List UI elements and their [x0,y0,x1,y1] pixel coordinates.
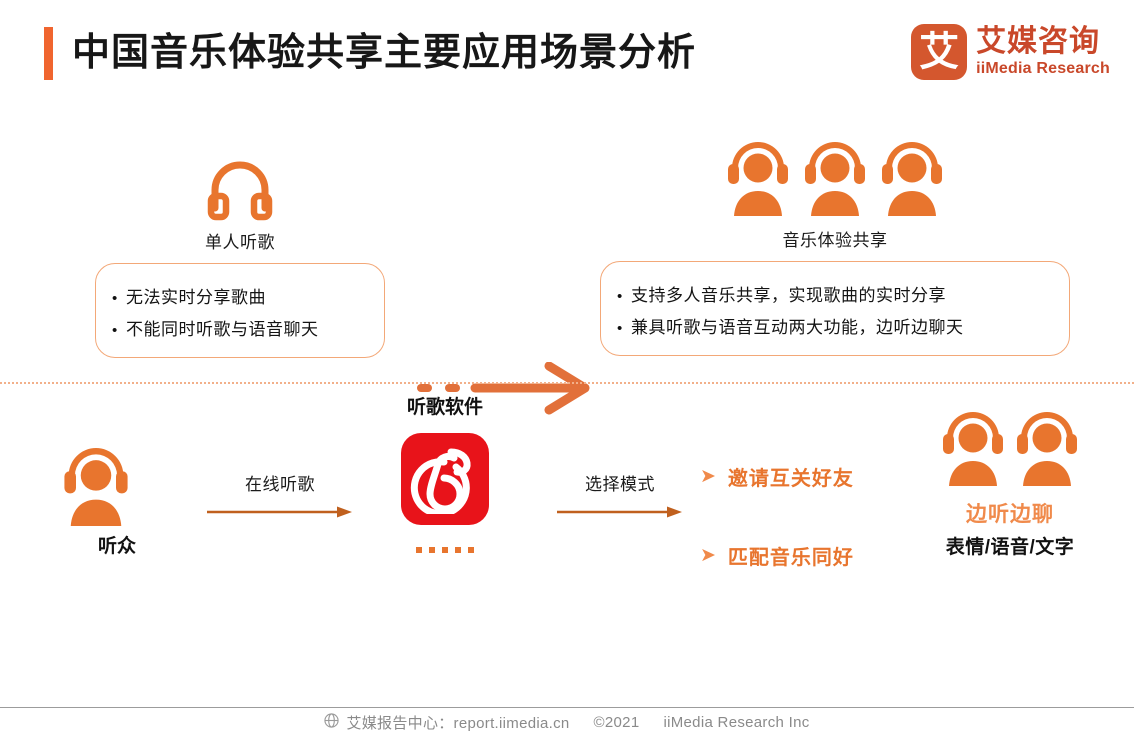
footer-company: iiMedia Research Inc [663,714,809,731]
shared-listening-block: 音乐体验共享 • 支持多人音乐共享，实现歌曲的实时分享 • 兼具听歌与语音互动两… [600,142,1070,356]
logo-mark-char: 艾 [919,32,959,72]
title-accent-bar [44,27,53,80]
section-divider [0,382,1134,384]
chevron-right-icon: ➤ [700,546,716,565]
page-title: 中国音乐体验共享主要应用场景分析 [72,28,696,78]
logo-name-cn: 艾媒咨询 [976,25,1110,59]
netease-cloud-music-icon [401,433,489,525]
bullet-text: 兼具听歌与语音互动两大功能，边听边聊天 [631,316,964,340]
shared-listening-caption: 音乐体验共享 [783,226,888,251]
header: 中国音乐体验共享主要应用场景分析 艾 艾媒咨询 iiMedia Research [0,0,1134,110]
list-item[interactable]: ➤ 邀请互关好友 [700,462,930,491]
bullet-dot-icon: • [617,287,631,307]
bullet-text: 支持多人音乐共享，实现歌曲的实时分享 [631,284,946,308]
list-item: • 兼具听歌与语音互动两大功能，边听边聊天 [617,316,1059,340]
footer-site: 艾媒报告中心：report.iimedia.cn [346,712,569,733]
list-item: • 无法实时分享歌曲 [112,286,374,310]
slide-root: 中国音乐体验共享主要应用场景分析 艾 艾媒咨询 iiMedia Research… [0,0,1134,737]
brand-logo: 艾 艾媒咨询 iiMedia Research [911,24,1110,80]
footer-copyright: ©2021 [594,714,640,731]
flow-section: 听众 在线听歌 听歌软件 [0,392,1134,652]
chat-title: 边听边聊 [930,498,1090,528]
three-people-headphones-icon [728,142,942,220]
app-ellipsis-icon [365,547,525,553]
mode-label: 邀请互关好友 [728,462,854,491]
flow-chat-result: 边听边聊 表情/语音/文字 [930,412,1090,559]
logo-wordmark: 艾媒咨询 iiMedia Research [976,25,1110,79]
flow-arrow-1-label: 在线听歌 [205,470,355,495]
footer: 艾媒报告中心：report.iimedia.cn ©2021 iiMedia R… [0,712,1134,733]
comparison-section: 单人听歌 • 无法实时分享歌曲 • 不能同时听歌与语音聊天 [0,110,1134,382]
logo-name-en: iiMedia Research [976,59,1110,79]
list-item[interactable]: ➤ 匹配音乐同好 [700,541,930,570]
bullet-text: 无法实时分享歌曲 [126,286,266,310]
globe-icon [324,713,339,732]
listener-label: 听众 [62,531,172,558]
footer-divider [0,707,1134,708]
list-item: • 不能同时听歌与语音聊天 [112,318,374,342]
headphone-icon [207,160,273,222]
arrow-right-icon [555,505,685,519]
flow-arrow-select-mode: 选择模式 [555,470,685,524]
flow-arrow-online-listen: 在线听歌 [205,470,355,524]
list-item: • 支持多人音乐共享，实现歌曲的实时分享 [617,284,1059,308]
solo-listening-block: 单人听歌 • 无法实时分享歌曲 • 不能同时听歌与语音聊天 [95,160,385,358]
flow-arrow-2-label: 选择模式 [555,470,685,495]
mode-label: 匹配音乐同好 [728,541,854,570]
person-headphones-icon [62,447,172,527]
bullet-dot-icon: • [112,289,126,309]
solo-listening-caption: 单人听歌 [205,228,275,253]
app-title: 听歌软件 [365,392,525,419]
bullet-text: 不能同时听歌与语音聊天 [126,318,319,342]
chevron-right-icon: ➤ [700,467,716,486]
solo-listening-bullet-box: • 无法实时分享歌曲 • 不能同时听歌与语音聊天 [95,263,385,358]
bullet-dot-icon: • [617,319,631,339]
shared-listening-bullet-box: • 支持多人音乐共享，实现歌曲的实时分享 • 兼具听歌与语音互动两大功能，边听边… [600,261,1070,356]
flow-app: 听歌软件 [365,392,525,553]
arrow-right-icon [205,505,355,519]
logo-mark-icon: 艾 [911,24,967,80]
chat-subtitle: 表情/语音/文字 [930,532,1090,559]
bullet-dot-icon: • [112,321,126,341]
flow-listener: 听众 [62,447,172,558]
mode-list: ➤ 邀请互关好友 ➤ 匹配音乐同好 [700,462,930,620]
two-people-headphones-icon [930,412,1090,490]
